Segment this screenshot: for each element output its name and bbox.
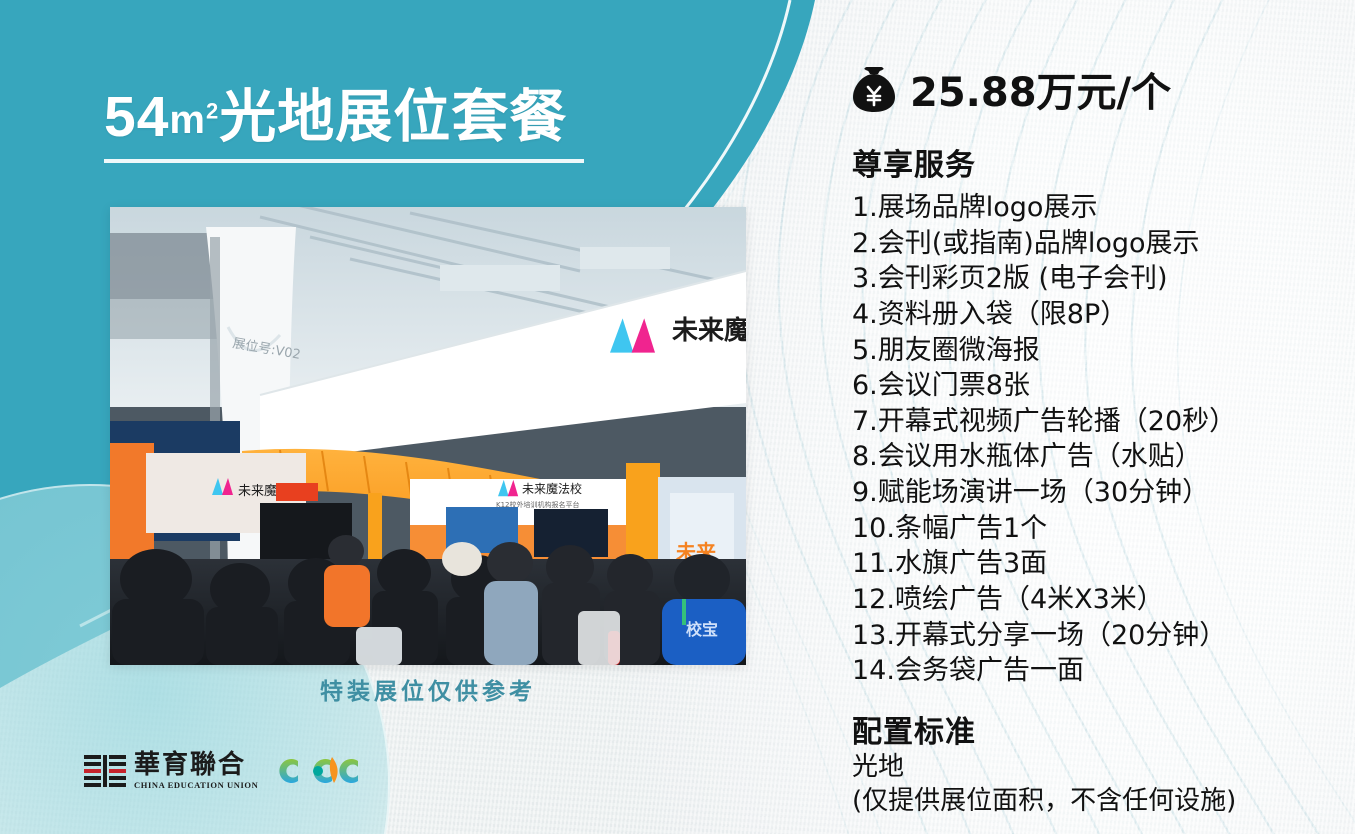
booth-photo: 展位号:V02 未来魔 兵庫教育 [110, 207, 746, 665]
list-item: 12.喷绘广告（4米X3米） [852, 582, 1328, 618]
page-title-block: 54m2光地展位套餐 [104, 88, 584, 163]
svg-text:校宝: 校宝 [686, 620, 718, 639]
services-heading: 尊享服务 [852, 140, 1328, 184]
config-line: 光地 [852, 751, 1328, 785]
list-item: 9.赋能场演讲一场（30分钟） [852, 475, 1328, 511]
cdc-logo [272, 753, 364, 789]
union-logo-en: CHINA EDUCATION UNION [134, 781, 258, 790]
list-item: 2.会刊(或指南)品牌logo展示 [852, 226, 1328, 262]
list-item: 5.朋友圈微海报 [852, 333, 1328, 369]
list-item: 14.会务袋广告一面 [852, 653, 1328, 689]
title-area-unit: m2 [169, 98, 219, 142]
page-title: 54m2光地展位套餐 [104, 88, 584, 148]
list-item: 6.会议门票8张 [852, 368, 1328, 404]
config-heading: 配置标准 [852, 707, 1328, 751]
union-trigram-mark [84, 754, 126, 788]
logo-bar: 華育聯合 CHINA EDUCATION UNION [84, 752, 364, 790]
list-item: 7.开幕式视频广告轮播（20秒） [852, 404, 1328, 440]
services-list: 1.展场品牌logo展示 2.会刊(或指南)品牌logo展示 3.会刊彩页2版 … [852, 190, 1328, 689]
china-education-union-logo: 華育聯合 CHINA EDUCATION UNION [84, 752, 258, 790]
package-details-panel: 25.88万元/个 尊享服务 1.展场品牌logo展示 2.会刊(或指南)品牌l… [852, 60, 1328, 818]
photo-caption: 特装展位仅供参考 [110, 672, 746, 706]
svg-text:未来魔法校: 未来魔法校 [522, 481, 582, 496]
union-logo-text: 華育聯合 CHINA EDUCATION UNION [134, 752, 258, 790]
price-value: 25.88万元/个 [910, 60, 1171, 118]
title-underline [104, 159, 584, 163]
list-item: 11.水旗广告3面 [852, 546, 1328, 582]
union-logo-han: 華育聯合 [134, 752, 246, 778]
config-line: (仅提供展位面积，不含任何设施) [852, 785, 1328, 819]
list-item: 3.会刊彩页2版 (电子会刊) [852, 261, 1328, 297]
list-item: 1.展场品牌logo展示 [852, 190, 1328, 226]
list-item: 13.开幕式分享一场（20分钟） [852, 618, 1328, 654]
title-main-text: 光地展位套餐 [219, 85, 567, 149]
svg-text:未来魔: 未来魔 [672, 316, 746, 346]
title-area-number: 54 [104, 85, 169, 149]
price-row: 25.88万元/个 [852, 60, 1328, 118]
slide-root: 54m2光地展位套餐 [0, 0, 1355, 834]
money-bag-icon [852, 65, 896, 113]
list-item: 4.资料册入袋（限8P） [852, 297, 1328, 333]
list-item: 8.会议用水瓶体广告（水贴） [852, 439, 1328, 475]
list-item: 10.条幅广告1个 [852, 511, 1328, 547]
